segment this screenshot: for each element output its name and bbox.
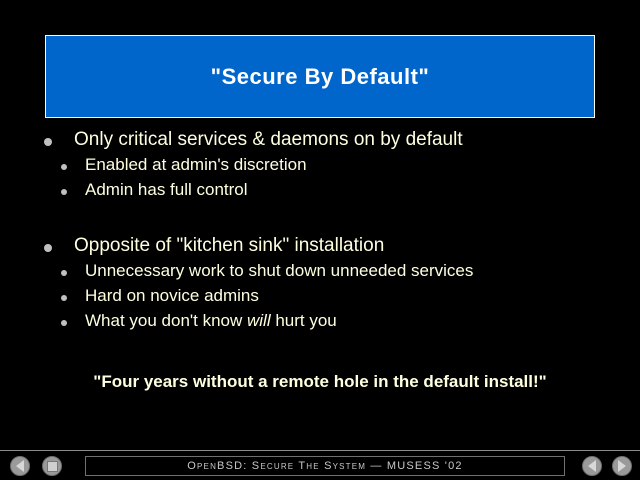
triangle-left-icon — [588, 460, 596, 472]
bullet-item-level2: Hard on novice admins — [0, 287, 640, 312]
bullet-group-spacer — [0, 206, 640, 236]
bullet-text: Admin has full control — [85, 181, 640, 198]
bullet-text-part-after: hurt you — [271, 311, 337, 330]
footer-caption: OpenBSD: Secure The System — MUSESS '02 — [187, 460, 462, 472]
slide-quote: "Four years without a remote hole in the… — [0, 372, 640, 392]
bullet-text: What you don't know will hurt you — [85, 312, 640, 329]
bullet-text: Only critical services & daemons on by d… — [74, 130, 640, 149]
bullet-item-level2: What you don't know will hurt you — [0, 312, 640, 337]
bullet-marker-icon — [44, 244, 52, 252]
footer-divider — [0, 450, 640, 451]
bullet-item-level1: Only critical services & daemons on by d… — [0, 130, 640, 156]
triangle-right-icon — [618, 460, 626, 472]
bullet-marker-icon — [61, 164, 67, 170]
bullet-item-level1: Opposite of "kitchen sink" installation — [0, 236, 640, 262]
presentation-slide: "Secure By Default" Only critical servic… — [0, 0, 640, 480]
bullet-text-part-before: What you don't know — [85, 311, 247, 330]
triangle-left-icon — [16, 460, 24, 472]
bullet-item-level2: Unnecessary work to shut down unneeded s… — [0, 262, 640, 287]
slide-footer: OpenBSD: Secure The System — MUSESS '02 — [0, 453, 640, 480]
bullet-text: Hard on novice admins — [85, 287, 640, 304]
stop-button[interactable] — [42, 456, 62, 476]
first-slide-button[interactable] — [10, 456, 30, 476]
slide-body: Only critical services & daemons on by d… — [0, 130, 640, 337]
bullet-item-level2: Admin has full control — [0, 181, 640, 206]
next-slide-button[interactable] — [612, 456, 632, 476]
bullet-marker-icon — [61, 189, 67, 195]
bullet-marker-icon — [44, 138, 52, 146]
bullet-marker-icon — [61, 270, 67, 276]
previous-slide-button[interactable] — [582, 456, 602, 476]
square-stop-icon — [47, 461, 58, 472]
slide-title: "Secure By Default" — [211, 66, 430, 88]
bullet-marker-icon — [61, 320, 67, 326]
slide-title-banner: "Secure By Default" — [45, 35, 595, 118]
bullet-item-level2: Enabled at admin's discretion — [0, 156, 640, 181]
bullet-marker-icon — [61, 295, 67, 301]
bullet-text: Enabled at admin's discretion — [85, 156, 640, 173]
bullet-text-emphasis: will — [247, 311, 271, 330]
bullet-text: Opposite of "kitchen sink" installation — [74, 236, 640, 255]
footer-caption-box: OpenBSD: Secure The System — MUSESS '02 — [85, 456, 565, 476]
bullet-text: Unnecessary work to shut down unneeded s… — [85, 262, 640, 279]
